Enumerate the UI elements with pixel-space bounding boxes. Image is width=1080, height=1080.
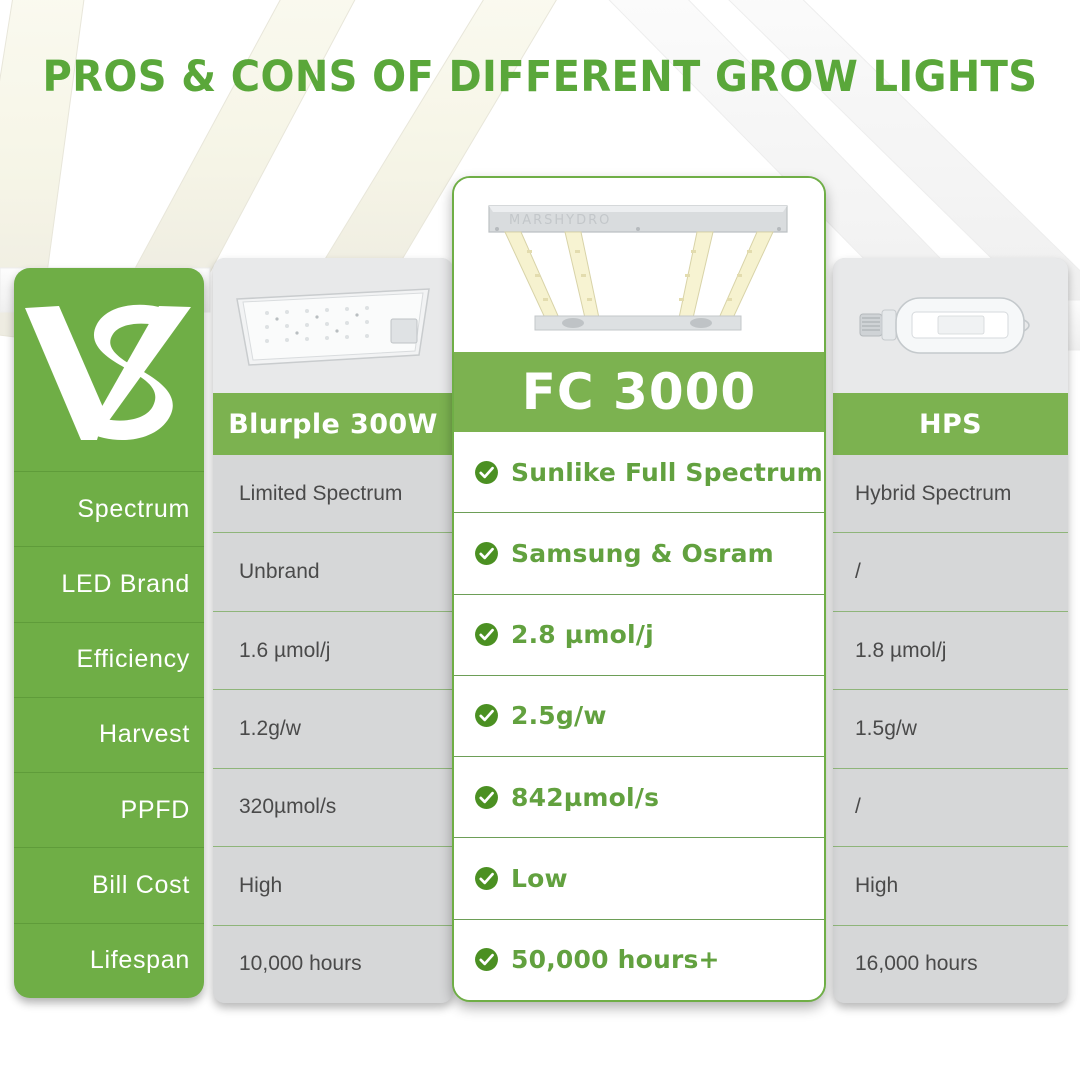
label-text: Lifespan: [90, 946, 190, 975]
feature-text: 842µmol/s: [511, 783, 659, 812]
fc3000-product-photo: MARSHYDRO: [454, 178, 824, 352]
value-cell: High: [213, 846, 453, 924]
label-text: PPFD: [121, 796, 190, 825]
check-circle-icon: [474, 947, 499, 972]
label-row-harvest: Harvest: [14, 697, 204, 772]
row-labels-column: Spectrum LED Brand Efficiency Harvest PP…: [14, 268, 204, 998]
feature-row-ppfd: 842µmol/s: [454, 756, 824, 837]
feature-row-efficiency: 2.8 µmol/j: [454, 594, 824, 675]
hps-bulb-icon: [846, 276, 1056, 376]
value-cell: 1.6 µmol/j: [213, 611, 453, 689]
column-fc-3000-featured: MARSHYDRO: [452, 176, 826, 1002]
value-cell: 1.8 µmol/j: [833, 611, 1068, 689]
comparison-infographic: PROS & CONS OF DIFFERENT GROW LIGHTS Spe…: [0, 0, 1080, 1080]
vs-monogram-icon: [23, 290, 195, 450]
value-cell: /: [833, 768, 1068, 846]
label-text: Spectrum: [77, 495, 190, 524]
feature-row-bill-cost: Low: [454, 837, 824, 918]
blurple-values: Limited Spectrum Unbrand 1.6 µmol/j 1.2g…: [213, 455, 453, 1003]
label-text: Bill Cost: [92, 871, 190, 900]
feature-row-harvest: 2.5g/w: [454, 675, 824, 756]
vs-logo: [14, 268, 204, 471]
value-cell: 320µmol/s: [213, 768, 453, 846]
value-cell: /: [833, 532, 1068, 610]
hps-header: HPS: [833, 393, 1068, 455]
label-row-efficiency: Efficiency: [14, 622, 204, 697]
label-row-ppfd: PPFD: [14, 772, 204, 847]
column-hps: HPS Hybrid Spectrum / 1.8 µmol/j 1.5g/w …: [833, 258, 1068, 1003]
value-cell: Limited Spectrum: [213, 455, 453, 532]
label-row-bill-cost: Bill Cost: [14, 847, 204, 922]
label-row-led-brand: LED Brand: [14, 546, 204, 621]
value-cell: 1.2g/w: [213, 689, 453, 767]
feature-text: 50,000 hours+: [511, 945, 720, 974]
label-row-spectrum: Spectrum: [14, 471, 204, 546]
blurple-product-photo: [213, 258, 453, 393]
value-cell: 1.5g/w: [833, 689, 1068, 767]
feature-text: Samsung & Osram: [511, 539, 774, 568]
check-circle-icon: [474, 866, 499, 891]
feature-row-led-brand: Samsung & Osram: [454, 512, 824, 593]
fc3000-values: Sunlike Full Spectrum Samsung & Osram 2.…: [454, 432, 824, 1000]
feature-text: Low: [511, 864, 568, 893]
value-cell: Unbrand: [213, 532, 453, 610]
check-circle-icon: [474, 622, 499, 647]
value-cell: 10,000 hours: [213, 925, 453, 1003]
page-title: PROS & CONS OF DIFFERENT GROW LIGHTS: [38, 52, 1042, 102]
check-circle-icon: [474, 785, 499, 810]
marshydro-fc3000-led-bar-light-icon: MARSHYDRO: [469, 190, 809, 340]
hps-values: Hybrid Spectrum / 1.8 µmol/j 1.5g/w / Hi…: [833, 455, 1068, 1003]
value-cell: 16,000 hours: [833, 925, 1068, 1003]
check-circle-icon: [474, 460, 499, 485]
label-text: Efficiency: [76, 645, 190, 674]
label-row-lifespan: Lifespan: [14, 923, 204, 998]
hps-product-photo: [833, 258, 1068, 393]
fc3000-header: FC 3000: [454, 352, 824, 432]
label-text: Harvest: [99, 720, 190, 749]
blurple-header: Blurple 300W: [213, 393, 453, 455]
check-circle-icon: [474, 703, 499, 728]
feature-row-lifespan: 50,000 hours+: [454, 919, 824, 1000]
value-cell: High: [833, 846, 1068, 924]
led-quantum-board-panel-icon: [223, 271, 443, 381]
feature-text: 2.5g/w: [511, 701, 607, 730]
label-text: LED Brand: [61, 570, 190, 599]
feature-text: Sunlike Full Spectrum: [511, 458, 823, 487]
column-blurple-300w: Blurple 300W Limited Spectrum Unbrand 1.…: [213, 258, 453, 1003]
product-brand-text: MARSHYDRO: [509, 213, 611, 228]
value-cell: Hybrid Spectrum: [833, 455, 1068, 532]
feature-row-spectrum: Sunlike Full Spectrum: [454, 432, 824, 512]
check-circle-icon: [474, 541, 499, 566]
feature-text: 2.8 µmol/j: [511, 620, 654, 649]
